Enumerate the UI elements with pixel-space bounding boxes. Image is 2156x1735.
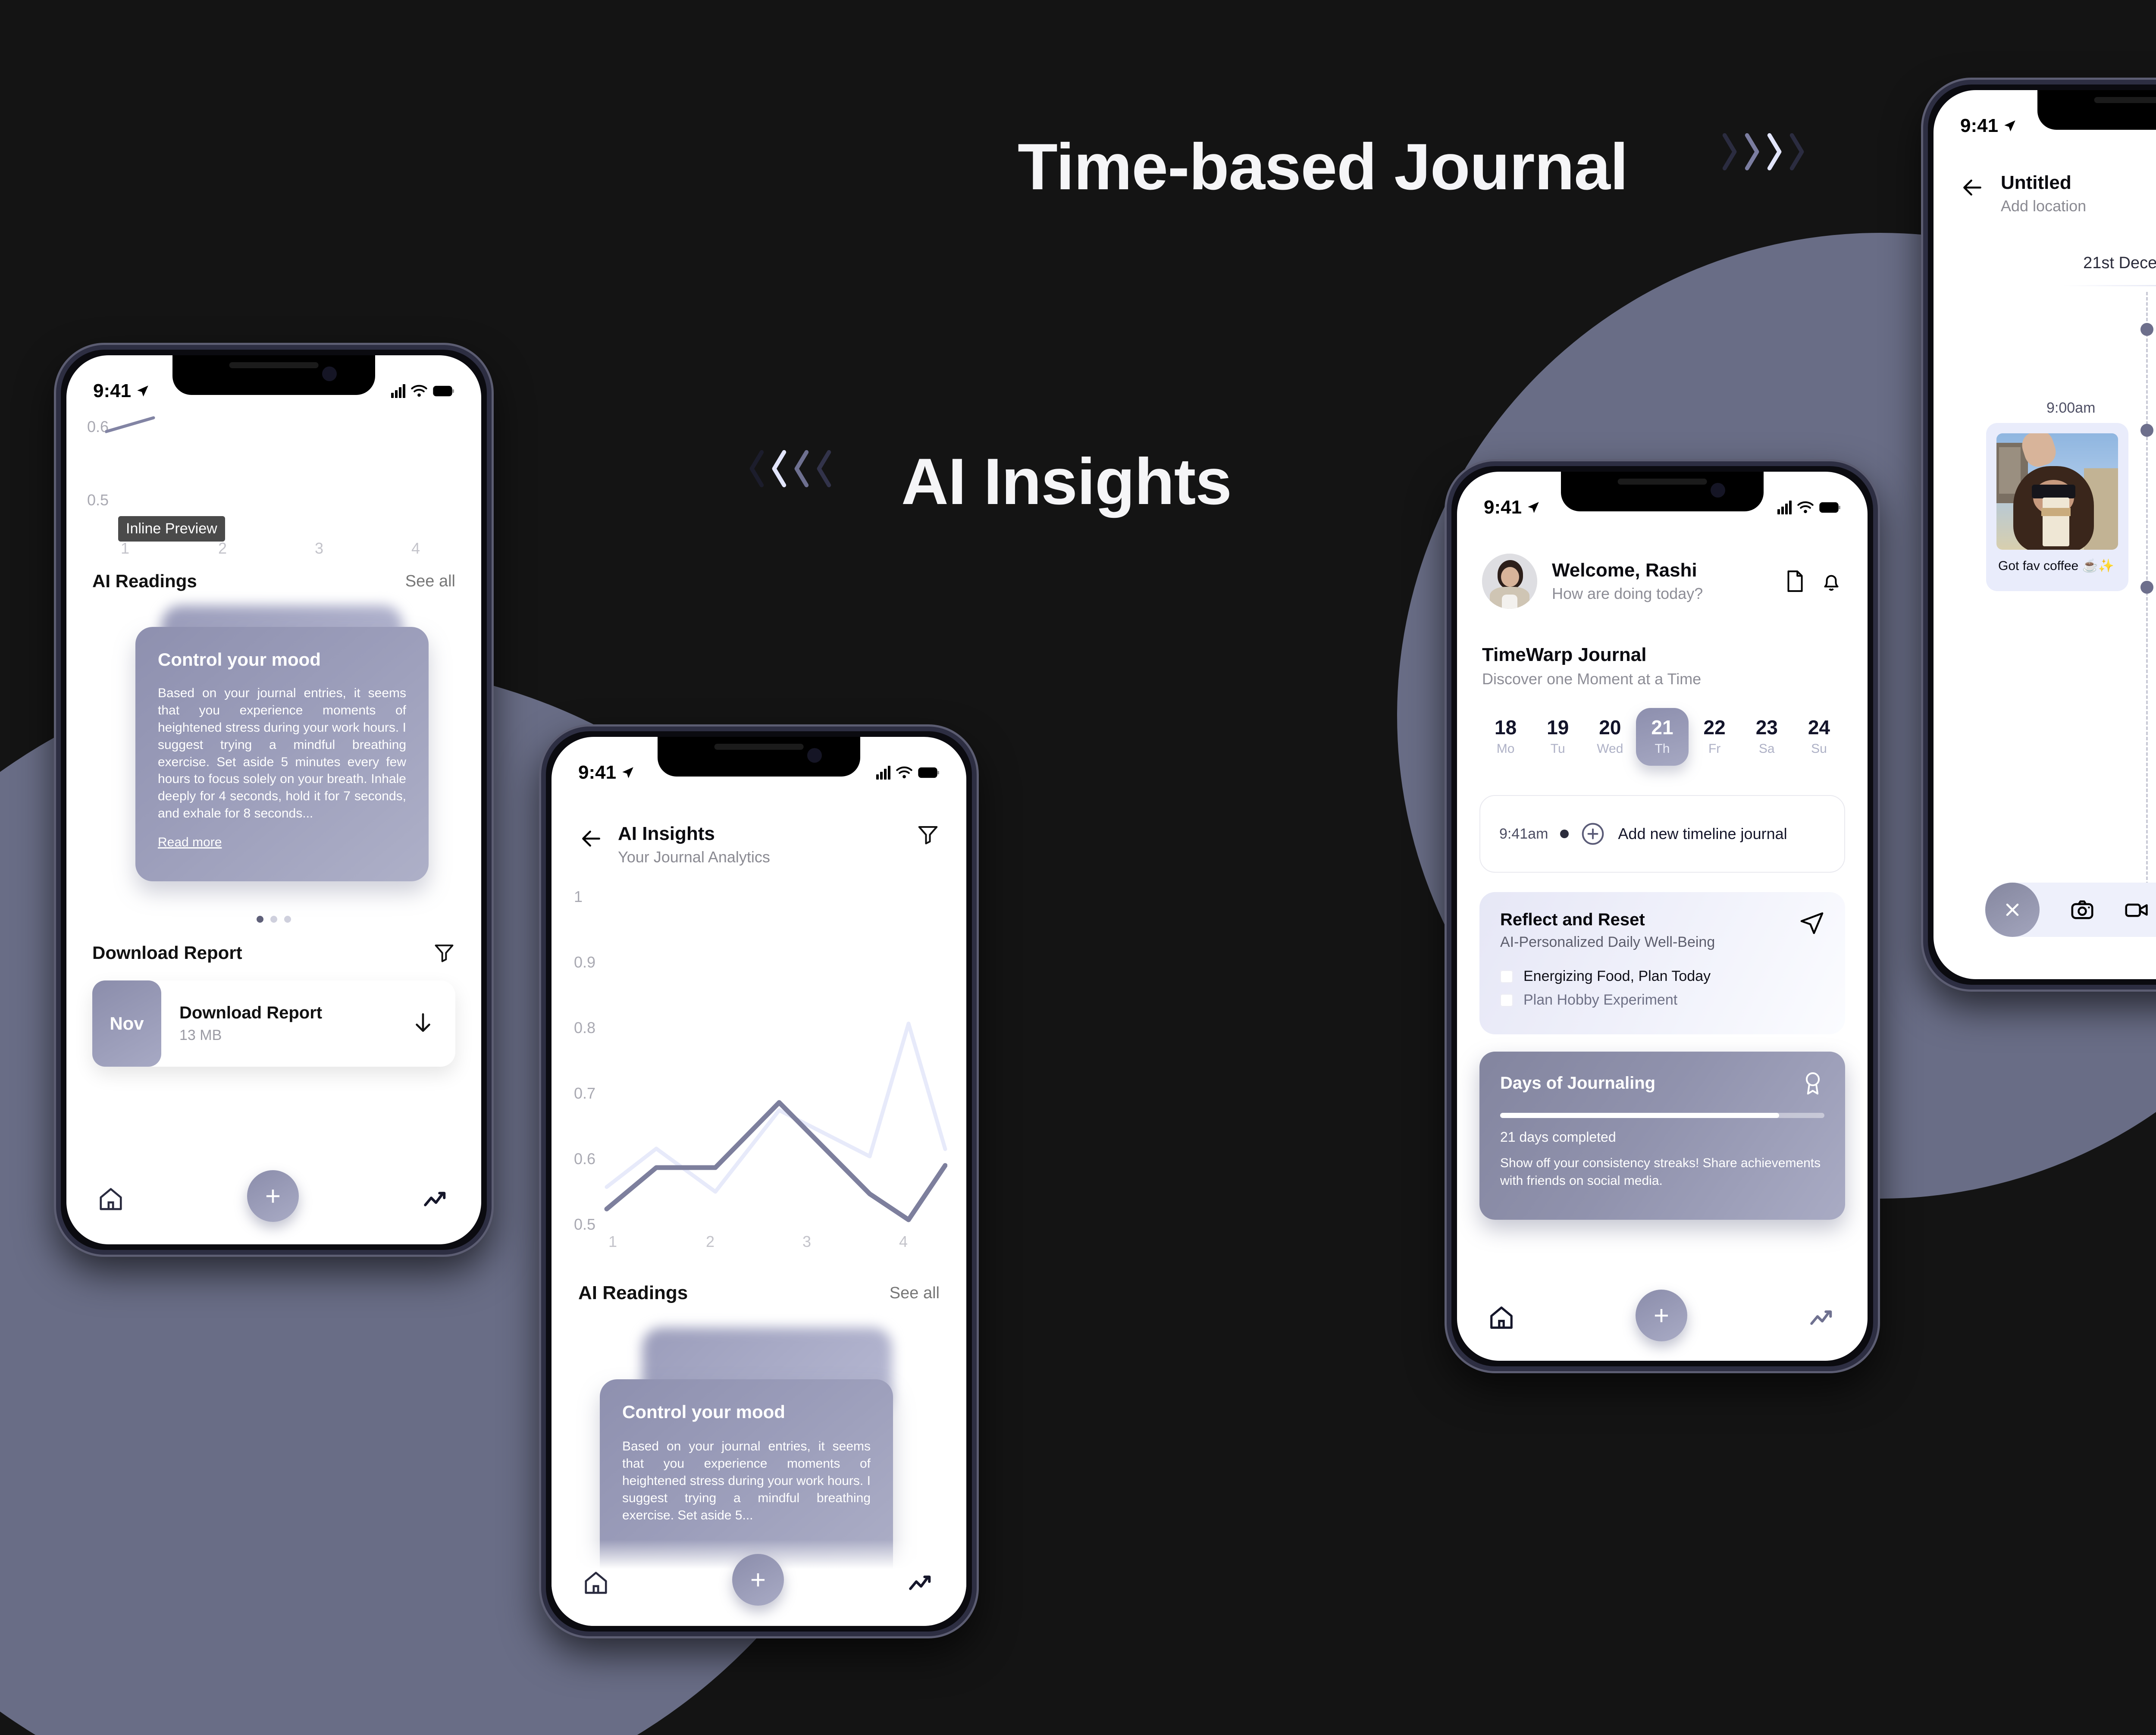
volume-down-button (1923, 352, 1924, 404)
inline-preview-tooltip: Inline Preview (118, 516, 225, 542)
cellular-icon (391, 384, 405, 398)
streak-progress-bar (1500, 1113, 1824, 1118)
award-icon (1801, 1071, 1824, 1096)
side-button (541, 874, 542, 904)
download-report-header: Download Report (92, 942, 455, 964)
day-weekday: Mo (1479, 742, 1532, 756)
volume-up-button (1447, 669, 1448, 720)
chevron-left-group (746, 446, 833, 491)
status-time: 9:41 (93, 380, 131, 402)
status-bar: 9:41 (66, 380, 481, 402)
day-number: 21 (1636, 716, 1688, 739)
side-button (1923, 227, 1924, 257)
day-chip[interactable]: 19Tu (1532, 708, 1584, 766)
task-checkbox[interactable] (1500, 970, 1513, 983)
bottom-nav[interactable]: + (66, 1154, 481, 1244)
day-number: 18 (1479, 716, 1532, 739)
month-badge: Nov (92, 980, 161, 1067)
streak-description: Show off your consistency streaks! Share… (1500, 1155, 1824, 1190)
app-title: TimeWarp Journal (1482, 644, 1701, 666)
back-arrow-icon[interactable] (1960, 175, 1984, 200)
fab-label: + (750, 1565, 766, 1595)
task-row[interactable]: Plan Hobby Experiment (1500, 992, 1824, 1008)
photo-entry-card[interactable]: Got fav coffee ☕✨ (1986, 423, 2128, 591)
fab-label: + (265, 1181, 281, 1212)
day-chip[interactable]: 18Mo (1479, 708, 1532, 766)
day-number: 23 (1741, 716, 1793, 739)
camera-icon[interactable] (2070, 897, 2095, 922)
download-file-title: Download Report (179, 1003, 411, 1023)
app-title-block: TimeWarp Journal Discover one Moment at … (1482, 644, 1701, 688)
add-entry-fab[interactable]: + (247, 1170, 299, 1222)
read-more-link[interactable]: Read more (158, 835, 222, 850)
volume-up-button (56, 552, 57, 604)
screen-header: AI Insights Your Journal Analytics (579, 823, 770, 866)
bell-icon[interactable] (1820, 570, 1843, 593)
download-file-size: 13 MB (179, 1027, 411, 1044)
x-tick-1: 1 (121, 539, 129, 557)
filter-icon[interactable] (916, 823, 940, 846)
power-button (491, 565, 492, 639)
chart-preview-region: 0.6 0.5 Inline Preview 1 2 3 4 (66, 422, 481, 564)
phone-mockup-ai-insights: 9:41 AI Insights Your Journal Analytics (541, 727, 977, 1636)
close-icon[interactable] (1985, 883, 2040, 937)
status-bar: 9:41 (552, 762, 966, 783)
day-chip[interactable]: 24Su (1793, 708, 1845, 766)
screen: 9:41 Welcome, Rashi (1457, 472, 1868, 1361)
ai-readings-see-all[interactable]: See all (405, 572, 455, 591)
volume-up-button (1923, 287, 1924, 339)
entry-date: 21st December (1934, 254, 2156, 272)
bottom-nav[interactable]: + (552, 1540, 966, 1626)
streak-completed: 21 days completed (1500, 1129, 1824, 1145)
analytics-chart: 1 0.9 0.8 0.7 0.6 0.5 1 2 3 4 (552, 888, 966, 1250)
add-timeline-journal-row[interactable]: 9:41am Add new timeline journal (1479, 795, 1845, 873)
day-weekday: Tu (1532, 742, 1584, 756)
battery-icon (918, 767, 940, 779)
chart-lines (602, 892, 947, 1241)
carousel-dots[interactable] (257, 916, 291, 923)
status-time: 9:41 (1484, 497, 1522, 518)
timeline-dot (2140, 424, 2153, 437)
screen: 9:41 0.6 0.5 Inline Preview 1 2 3 (66, 355, 481, 1244)
task-label: Energizing Food, Plan Today (1523, 968, 1711, 985)
download-arrow-icon[interactable] (411, 1011, 436, 1036)
status-time: 9:41 (1960, 115, 1998, 137)
status-time: 9:41 (578, 762, 616, 783)
trending-up-icon[interactable] (907, 1569, 935, 1597)
chart-line-snippet (105, 414, 157, 436)
entry-time: 9:00am (2046, 400, 2095, 417)
document-icon[interactable] (1784, 570, 1805, 593)
trending-up-icon[interactable] (422, 1185, 450, 1213)
timeline-dot (1560, 830, 1569, 838)
day-weekday: Wed (1584, 742, 1636, 756)
phone-mockup-entry-timeline: 9:41 Untitled Add location 21st December (1923, 80, 2156, 990)
day-weekday: Su (1793, 742, 1845, 756)
day-number: 20 (1584, 716, 1636, 739)
home-icon[interactable] (1488, 1304, 1515, 1331)
add-entry-fab[interactable]: + (1636, 1290, 1687, 1341)
power-button (1877, 682, 1878, 755)
timeline-rail (2146, 292, 2148, 896)
poster-canvas: Time-based Journal AI Insights 9:41 (0, 0, 2156, 1735)
download-report-title: Download Report (92, 943, 242, 963)
back-arrow-icon[interactable] (579, 827, 603, 851)
reflect-and-reset-card[interactable]: Reflect and Reset AI-Personalized Daily … (1479, 892, 1845, 1034)
day-weekday: Fr (1689, 742, 1741, 756)
x-tick-2: 2 (218, 539, 227, 557)
poster-subtitle: AI Insights (901, 444, 1232, 520)
screen: 9:41 AI Insights Your Journal Analytics (552, 737, 966, 1626)
app-tagline: Discover one Moment at a Time (1482, 670, 1701, 688)
task-label: Plan Hobby Experiment (1523, 992, 1677, 1008)
ai-readings-header: AI Readings See all (92, 571, 455, 592)
plus-circle-icon[interactable] (1581, 822, 1605, 846)
filter-icon[interactable] (433, 942, 455, 964)
ai-card-title: Control your mood (158, 649, 406, 670)
wifi-icon (1797, 500, 1814, 515)
side-button (1447, 608, 1448, 639)
volume-down-button (56, 617, 57, 669)
home-icon[interactable] (583, 1569, 609, 1596)
y-tick-0-5: 0.5 (87, 491, 109, 509)
page-title: AI Insights (618, 823, 770, 845)
day-number: 22 (1689, 716, 1741, 739)
battery-icon (433, 385, 454, 397)
bottom-nav[interactable]: + (1457, 1275, 1868, 1361)
greeting-row: Welcome, Rashi How are doing today? (1482, 554, 1843, 609)
ai-readings-title: AI Readings (578, 1282, 688, 1304)
entry-title[interactable]: Untitled (2001, 172, 2086, 194)
photo-entry-caption: Got fav coffee ☕✨ (1986, 550, 2128, 573)
day-number: 24 (1793, 716, 1845, 739)
wifi-icon (896, 765, 913, 780)
reflect-title: Reflect and Reset (1500, 910, 1715, 930)
volume-up-button (541, 934, 542, 986)
avatar[interactable] (1482, 554, 1537, 609)
phone-mockup-ai-readings: 9:41 0.6 0.5 Inline Preview 1 2 3 (56, 345, 492, 1255)
poster-title: Time-based Journal (1018, 129, 1628, 205)
status-bar: 9:41 (1934, 115, 2156, 137)
screen: 9:41 Untitled Add location 21st December (1934, 90, 2156, 979)
cellular-icon (876, 766, 890, 780)
volume-down-button (541, 999, 542, 1050)
date-strip[interactable]: 18Mo 19Tu 20Wed 21Th 22Fr 23Sa 24Su (1479, 708, 1845, 766)
days-of-journaling-card[interactable]: Days of Journaling 21 days completed Sho… (1479, 1052, 1845, 1220)
phone-mockup-home: 9:41 Welcome, Rashi (1447, 461, 1878, 1371)
location-arrow-icon (620, 765, 635, 780)
day-chip[interactable]: 23Sa (1741, 708, 1793, 766)
x-tick-4: 4 (411, 539, 420, 557)
wifi-icon (411, 384, 428, 398)
entry-toolbar[interactable] (1985, 883, 2156, 937)
timeline-dot (2140, 581, 2153, 594)
welcome-name: Welcome, Rashi (1552, 560, 1784, 581)
download-report-row[interactable]: Nov Download Report 13 MB (92, 980, 455, 1067)
screen-header: Untitled Add location (1960, 172, 2086, 215)
chevron-right-group (1720, 129, 1808, 174)
timeline-time: 9:41am (1480, 826, 1548, 842)
volume-down-button (1447, 733, 1448, 785)
ai-card-title: Control your mood (622, 1402, 871, 1422)
dot-1[interactable] (257, 916, 263, 923)
streak-title: Days of Journaling (1500, 1074, 1655, 1093)
day-chip[interactable]: 20Wed (1584, 708, 1636, 766)
ai-readings-see-all[interactable]: See all (890, 1284, 940, 1303)
reflect-subtitle: AI-Personalized Daily Well-Being (1500, 934, 1715, 951)
task-checkbox[interactable] (1500, 994, 1513, 1007)
ai-insight-card[interactable]: Control your mood Based on your journal … (135, 627, 429, 881)
ai-readings-header: AI Readings See all (578, 1282, 940, 1304)
ai-card-carousel[interactable]: Control your mood Based on your journal … (66, 605, 481, 907)
location-arrow-icon (135, 384, 150, 398)
home-icon[interactable] (97, 1186, 124, 1212)
day-chip[interactable]: 22Fr (1689, 708, 1741, 766)
ai-card-body: Based on your journal entries, it seems … (158, 685, 406, 822)
day-weekday: Th (1636, 742, 1688, 756)
video-icon[interactable] (2124, 897, 2151, 922)
ai-readings-title: AI Readings (92, 571, 197, 592)
entry-photo[interactable] (1996, 433, 2118, 550)
day-weekday: Sa (1741, 742, 1793, 756)
cellular-icon (1777, 501, 1792, 514)
day-chip-selected[interactable]: 21Th (1636, 708, 1688, 766)
send-icon[interactable] (1799, 910, 1824, 935)
day-number: 19 (1532, 716, 1584, 739)
timeline-dot (2140, 323, 2153, 336)
fab-label: + (1654, 1300, 1669, 1331)
location-arrow-icon (1526, 500, 1541, 515)
battery-icon (1819, 501, 1841, 514)
dot-3[interactable] (284, 916, 291, 923)
add-location-link[interactable]: Add location (2001, 197, 2086, 215)
task-row[interactable]: Energizing Food, Plan Today (1500, 968, 1824, 985)
page-subtitle: Your Journal Analytics (618, 848, 770, 866)
dot-2[interactable] (270, 916, 277, 923)
location-arrow-icon (2002, 119, 2017, 133)
status-bar: 9:41 (1457, 497, 1868, 518)
welcome-question: How are doing today? (1552, 585, 1784, 603)
power-button (976, 947, 977, 1020)
trending-up-icon[interactable] (1808, 1303, 1836, 1332)
add-entry-fab[interactable]: + (732, 1554, 784, 1606)
add-timeline-label: Add new timeline journal (1605, 825, 1787, 843)
ai-card-body: Based on your journal entries, it seems … (622, 1438, 871, 1524)
side-button (56, 492, 57, 522)
date-divider (2063, 285, 2156, 286)
x-tick-3: 3 (315, 539, 323, 557)
